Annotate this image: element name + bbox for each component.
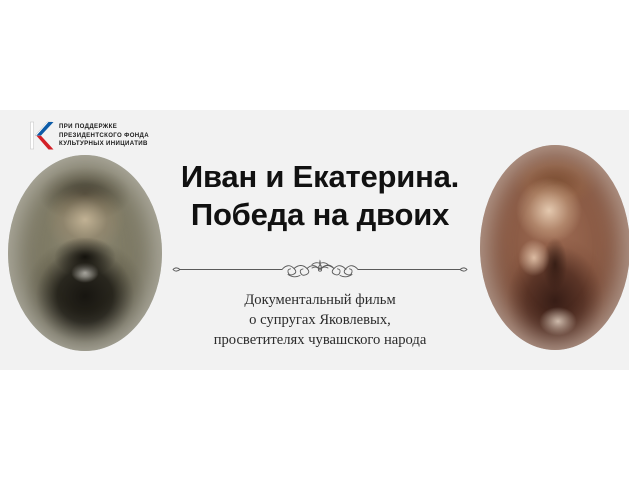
film-title-line-2: Победа на двоих	[150, 196, 490, 234]
presidential-fund-k-mark-icon	[28, 119, 54, 153]
portrait-ivan-yakovlev	[8, 155, 162, 351]
film-promo-banner: ПРИ ПОДДЕРЖКЕ ПРЕЗИДЕНТСКОГО ФОНДА КУЛЬТ…	[0, 110, 629, 370]
ornamental-flourish-divider-icon	[170, 258, 470, 284]
portrait-ekaterina-yakovleva	[480, 145, 629, 350]
sponsor-logo-line-2: ПРЕЗИДЕНТСКОГО ФОНДА	[59, 132, 149, 140]
banner-center-column: Иван и Екатерина. Победа на двоих	[150, 110, 490, 370]
film-subtitle-line-3: просветителях чувашского народа	[150, 330, 490, 350]
film-title: Иван и Екатерина. Победа на двоих	[150, 158, 490, 234]
film-subtitle-line-2: о супругах Яковлевых,	[150, 310, 490, 330]
sponsor-logo-line-1: ПРИ ПОДДЕРЖКЕ	[59, 123, 149, 131]
film-title-line-1: Иван и Екатерина.	[150, 158, 490, 196]
page-canvas: ПРИ ПОДДЕРЖКЕ ПРЕЗИДЕНТСКОГО ФОНДА КУЛЬТ…	[0, 0, 640, 480]
sponsor-logo: ПРИ ПОДДЕРЖКЕ ПРЕЗИДЕНТСКОГО ФОНДА КУЛЬТ…	[28, 119, 149, 153]
sponsor-logo-line-3: КУЛЬТУРНЫХ ИНИЦИАТИВ	[59, 140, 149, 148]
sponsor-logo-text: ПРИ ПОДДЕРЖКЕ ПРЕЗИДЕНТСКОГО ФОНДА КУЛЬТ…	[59, 123, 149, 148]
film-subtitle-line-1: Документальный фильм	[150, 290, 490, 310]
film-subtitle: Документальный фильм о супругах Яковлевы…	[150, 290, 490, 350]
